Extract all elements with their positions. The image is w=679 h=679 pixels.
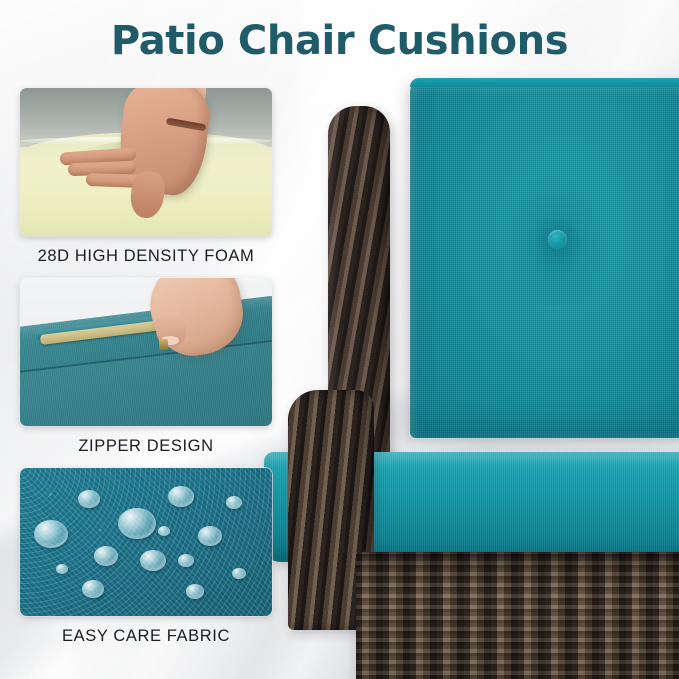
tufted-button xyxy=(548,230,567,249)
water-droplet xyxy=(186,584,204,599)
page-title: Patio Chair Cushions xyxy=(0,18,679,64)
water-droplet xyxy=(178,554,194,567)
water-droplet xyxy=(56,564,68,574)
water-droplet xyxy=(34,520,68,548)
feature-card-zipper: ZIPPER DESIGN xyxy=(20,278,272,456)
water-droplet xyxy=(94,546,118,566)
feature-card-foam: 28D HIGH DENSITY FOAM xyxy=(20,88,272,266)
feature-caption-fabric: EASY CARE FABRIC xyxy=(20,627,272,646)
water-droplet xyxy=(158,526,170,536)
water-droplet xyxy=(82,580,104,598)
product-feature-graphic: Patio Chair Cushions 28D HIGH DENSITY FO… xyxy=(0,0,679,679)
feature-image-zipper xyxy=(20,278,272,426)
water-droplet xyxy=(118,508,156,539)
feature-image-foam xyxy=(20,88,272,236)
water-droplet xyxy=(198,526,222,546)
zipper-pull xyxy=(159,339,168,350)
feature-caption-zipper: ZIPPER DESIGN xyxy=(20,437,272,456)
feature-card-fabric: EASY CARE FABRIC xyxy=(20,468,272,646)
feature-image-fabric xyxy=(20,468,272,616)
hero-chair-image xyxy=(300,60,679,679)
wicker-base-shading xyxy=(356,552,679,679)
water-droplet xyxy=(78,490,100,508)
water-droplet xyxy=(226,496,242,509)
feature-caption-foam: 28D HIGH DENSITY FOAM xyxy=(20,247,272,266)
